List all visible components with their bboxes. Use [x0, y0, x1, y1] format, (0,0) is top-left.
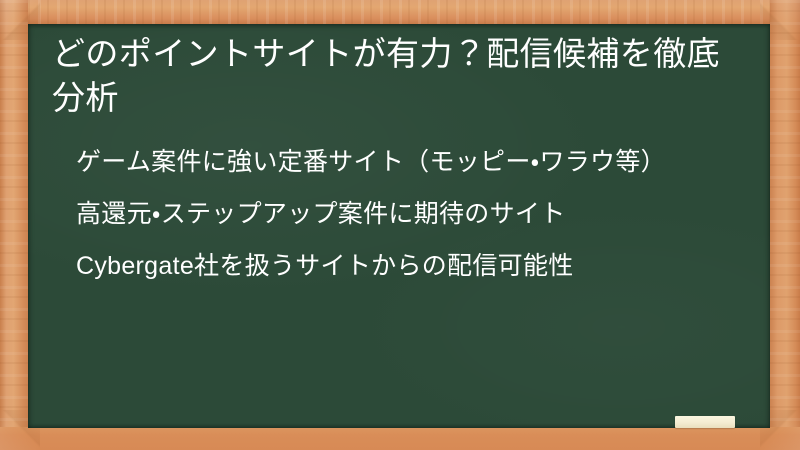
chalkboard-graphic: どのポイントサイトが有力？配信候補を徹底分析 ゲーム案件に強い定番サイト（モッピ… [0, 0, 800, 450]
list-item[interactable]: ゲーム案件に強い定番サイト（モッピー・ワラウ等） [76, 142, 730, 182]
chalkboard-surface: どのポイントサイトが有力？配信候補を徹底分析 ゲーム案件に強い定番サイト（モッピ… [28, 24, 770, 428]
frame-rail-top [0, 0, 800, 24]
frame-rail-right [770, 0, 800, 450]
chalk-stick [675, 416, 735, 428]
list-item[interactable]: 高還元・ステップアップ案件に期待のサイト [76, 194, 730, 234]
list-item[interactable]: Cybergate社を扱うサイトからの配信可能性 [76, 246, 730, 286]
page-title: どのポイントサイトが有力？配信候補を徹底分析 [38, 32, 748, 120]
chalkboard-content: どのポイントサイトが有力？配信候補を徹底分析 ゲーム案件に強い定番サイト（モッピ… [28, 24, 770, 286]
frame-rail-left [0, 0, 28, 450]
frame-rail-bottom-ledge [0, 427, 800, 450]
table-of-contents-list: ゲーム案件に強い定番サイト（モッピー・ワラウ等） 高還元・ステップアップ案件に期… [38, 142, 748, 286]
